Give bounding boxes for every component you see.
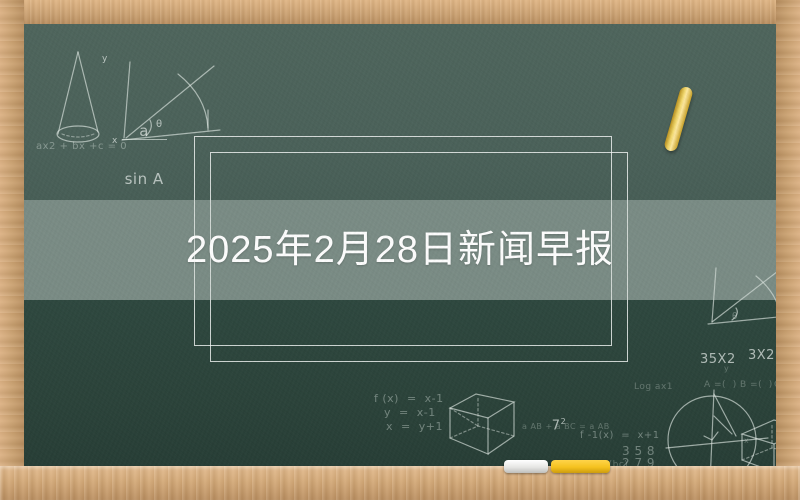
board-upper-region: [24, 24, 776, 200]
chalkboard-surface: a sin A y x θ ax2 + bx +c = 0 θ: [24, 24, 776, 466]
frame-right-rail: [776, 0, 800, 500]
frame-bottom-ledge: [0, 466, 800, 500]
ledge-chalk-yellow: [551, 460, 610, 473]
board-lower-region: [24, 300, 776, 466]
frame-left-rail: [0, 0, 24, 500]
screenshot-root: a sin A y x θ ax2 + bx +c = 0 θ: [0, 0, 800, 500]
ledge-chalk-white: [504, 460, 548, 473]
frame-top-rail: [0, 0, 800, 24]
page-title: 2025年2月28日新闻早报: [24, 222, 776, 278]
